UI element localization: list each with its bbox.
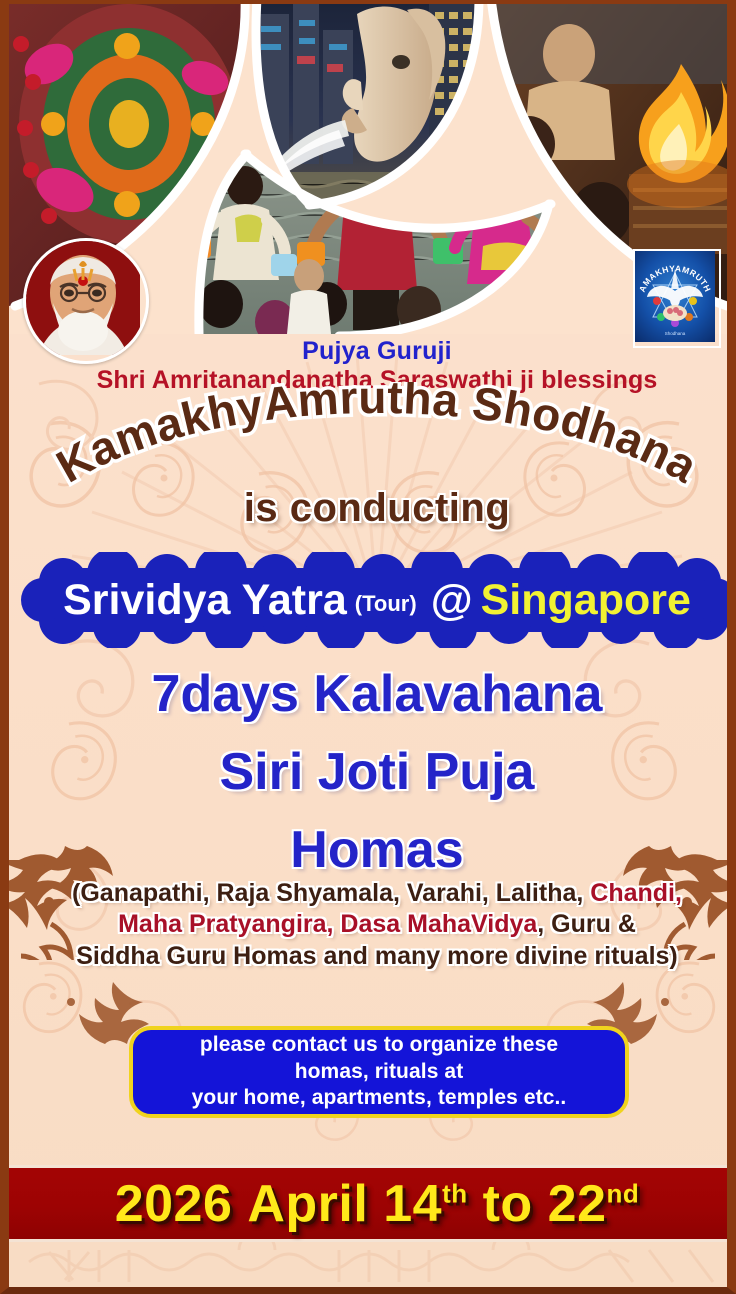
heading-line-2: Siri Joti Puja xyxy=(9,742,736,802)
contact-line-3: your home, apartments, temples etc.. xyxy=(192,1085,567,1111)
homa-list-line-2: Maha Pratyangira, Dasa MahaVidya, Guru & xyxy=(15,909,736,940)
flourish-left-lower xyxy=(9,966,149,1056)
date-day-start: 14 xyxy=(383,1175,442,1233)
contact-box[interactable]: please contact us to organize these homa… xyxy=(129,1026,629,1118)
is-conducting-label: is conducting xyxy=(9,486,736,531)
date-month: April xyxy=(247,1175,368,1233)
homa-list-line-1-part-a: (Ganapathi, Raja Shyamala, Varahi, Lalit… xyxy=(72,879,590,907)
homa-list-line-1: (Ganapathi, Raja Shyamala, Varahi, Lalit… xyxy=(15,878,736,909)
brand-arch-title: KamakhyAmrutha Shodhana xyxy=(9,382,736,492)
date-year: 2026 xyxy=(115,1175,233,1233)
date-day-start-ordinal: th xyxy=(442,1178,468,1208)
homa-list-line-2-part-b: , Guru & xyxy=(537,910,636,938)
homa-list-line-1-part-b: Chandi, xyxy=(590,879,682,907)
event-date-text: 2026 April 14th to 22nd xyxy=(115,1178,640,1230)
date-day-end: 22 xyxy=(548,1175,607,1233)
svg-text:Shodhana: Shodhana xyxy=(665,331,686,336)
guru-portrait xyxy=(23,238,149,364)
homa-list: (Ganapathi, Raja Shyamala, Varahi, Lalit… xyxy=(15,878,736,972)
heading-line-3: Homas xyxy=(9,820,736,880)
yatra-title: Srividya Yatra xyxy=(63,579,347,622)
contact-line-1: please contact us to organize these xyxy=(200,1032,558,1058)
date-range-to: to xyxy=(483,1175,533,1233)
date-day-end-ordinal: nd xyxy=(607,1178,640,1208)
date-banner: 2026 April 14th to 22nd xyxy=(9,1165,736,1242)
yatra-banner-text: Srividya Yatra (Tour) @ Singapore xyxy=(9,570,736,630)
at-symbol: @ xyxy=(423,579,481,622)
yatra-tour-label: (Tour) xyxy=(347,593,423,615)
svg-text:KamakhyAmrutha Shodhana: KamakhyAmrutha Shodhana xyxy=(48,382,707,492)
kamakhyamrutha-logo: KAMAKHYAMRUTHA Shodhana xyxy=(633,249,721,348)
homa-list-line-3: Siddha Guru Homas and many more divine r… xyxy=(15,941,736,972)
heading-line-1: 7days Kalavahana xyxy=(9,664,736,724)
contact-line-2: homas, rituals at xyxy=(295,1059,464,1085)
event-flyer: KAMAKHYAMRUTHA Shodhana Pujya Guruji Shr… xyxy=(0,0,736,1294)
homa-list-line-2-part-a: Maha Pratyangira, Dasa MahaVidya xyxy=(118,910,537,938)
brand-arch-text: KamakhyAmrutha Shodhana xyxy=(48,382,707,492)
yatra-location: Singapore xyxy=(481,579,691,622)
